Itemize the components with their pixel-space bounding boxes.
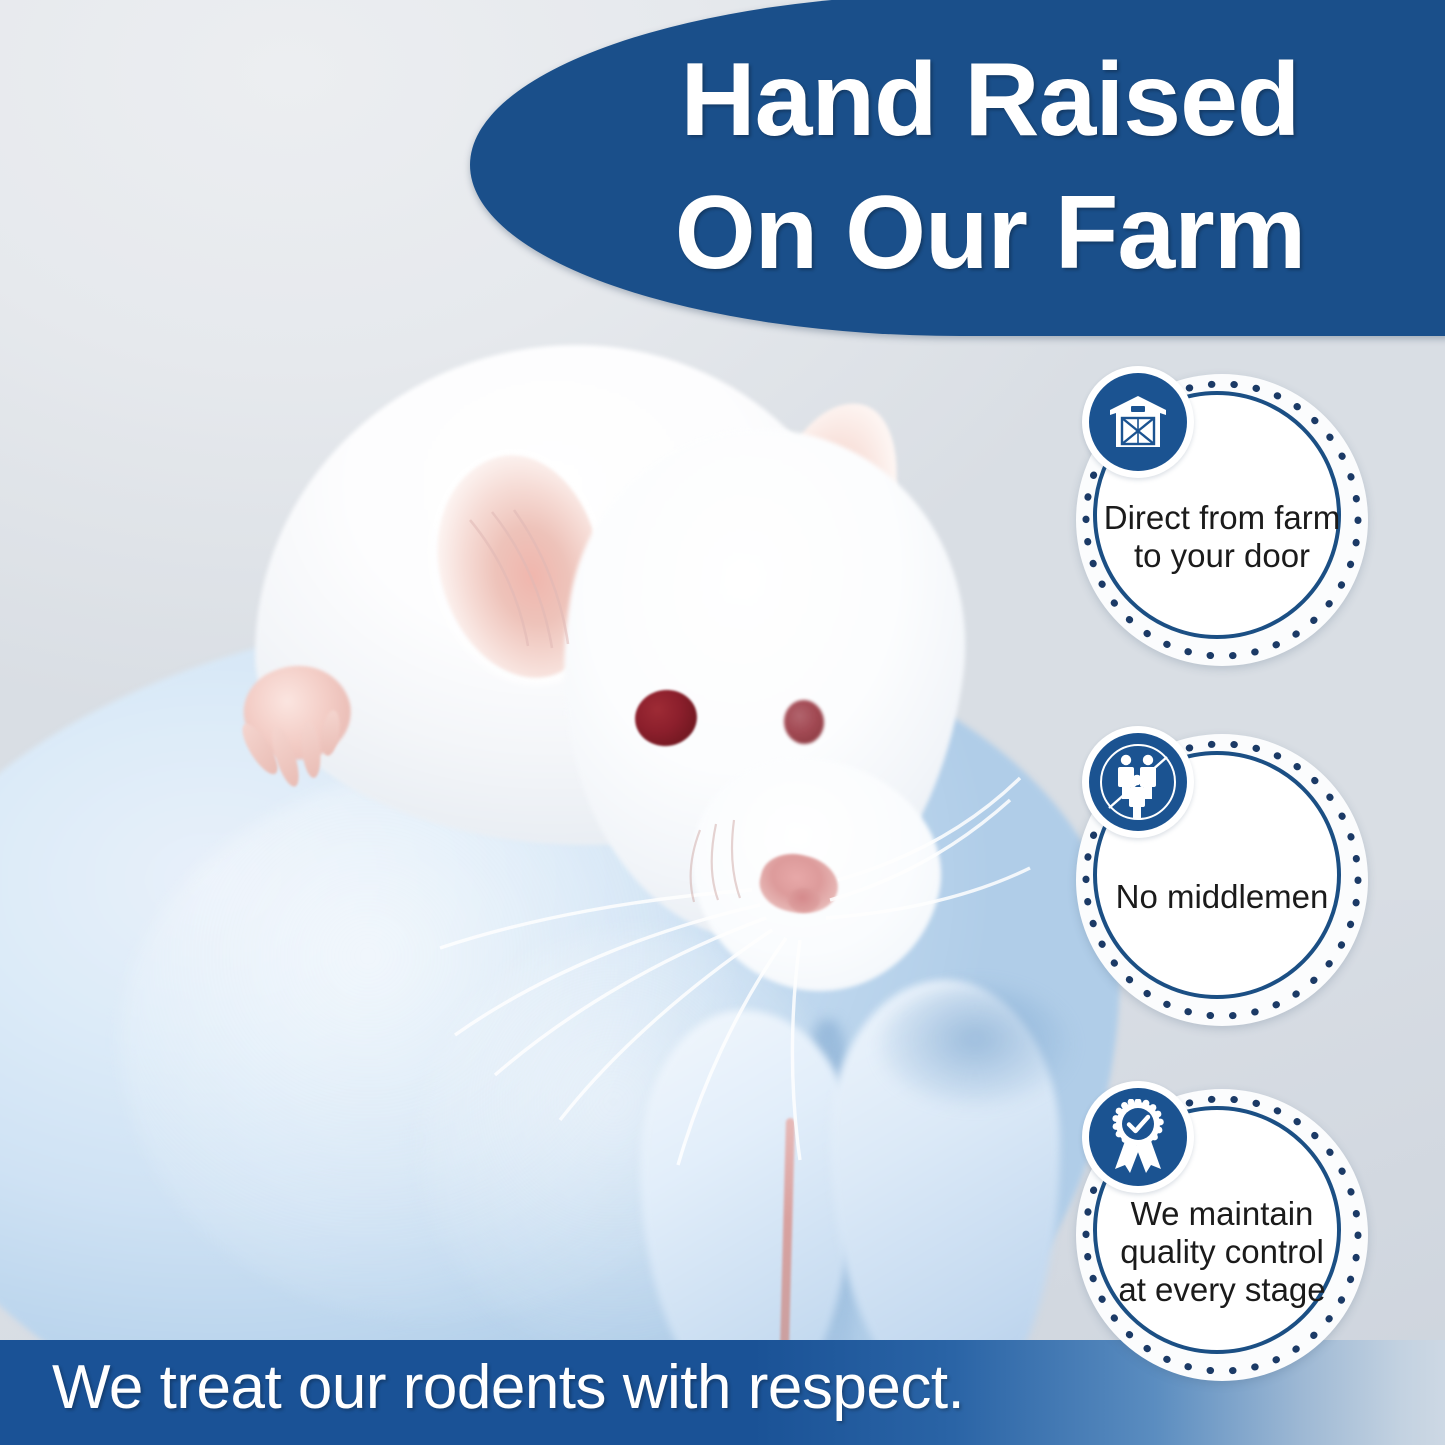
feature-badge-no-middlemen: No middlemen [1076, 734, 1368, 1026]
page-title-line-1: Hand Raised [560, 34, 1420, 167]
mouse-nose-tip [788, 888, 820, 912]
page-title-line-2: On Our Farm [560, 167, 1420, 300]
page-title: Hand Raised On Our Farm [560, 34, 1420, 300]
badge-icon-holder [1082, 1081, 1194, 1193]
feature-badge-quality-control: We maintain quality control at every sta… [1076, 1089, 1368, 1381]
badge-icon-holder [1082, 726, 1194, 838]
feature-badge-direct-from-farm: Direct from farm to your door [1076, 374, 1368, 666]
barn-icon [1089, 373, 1187, 471]
marketing-image: Hand Raised On Our Farm We treat our rod… [0, 0, 1445, 1445]
footer-tagline: We treat our rodents with respect. [52, 1352, 964, 1423]
award-ribbon-icon [1089, 1088, 1187, 1186]
no-middlemen-icon [1089, 733, 1187, 831]
badge-icon-holder [1082, 366, 1194, 478]
